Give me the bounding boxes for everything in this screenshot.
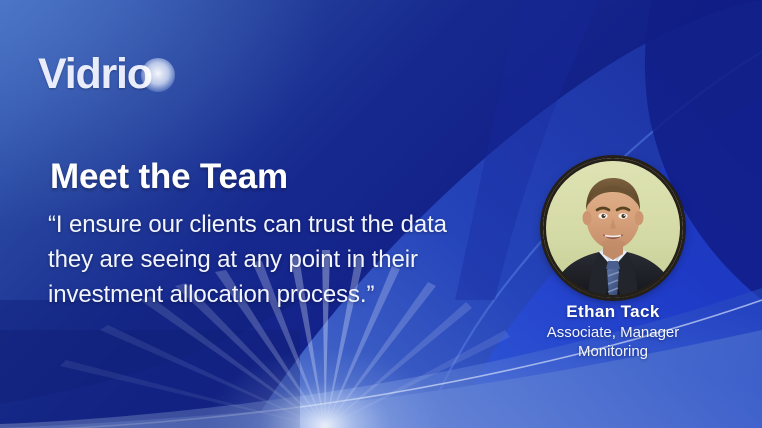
slide-canvas: Vidrio Meet the Team “I ensure our clien…: [0, 0, 762, 428]
quote-line: they are seeing at any point in their: [48, 242, 478, 277]
person-role-line-1: Associate, Manager: [493, 323, 733, 342]
avatar: [543, 158, 683, 298]
quote-line: investment allocation process.”: [48, 277, 478, 312]
person-info: Ethan Tack Associate, Manager Monitoring: [493, 301, 733, 361]
brand-logo-text: Vidrio: [38, 48, 228, 100]
portrait-photo: [543, 158, 683, 298]
quote-block: “I ensure our clients can trust the data…: [48, 207, 478, 312]
person-name: Ethan Tack: [493, 301, 733, 323]
person-role-line-2: Monitoring: [493, 342, 733, 361]
brand-logo: Vidrio: [38, 48, 228, 100]
quote-line: “I ensure our clients can trust the data: [48, 207, 478, 242]
page-title: Meet the Team: [50, 157, 288, 197]
